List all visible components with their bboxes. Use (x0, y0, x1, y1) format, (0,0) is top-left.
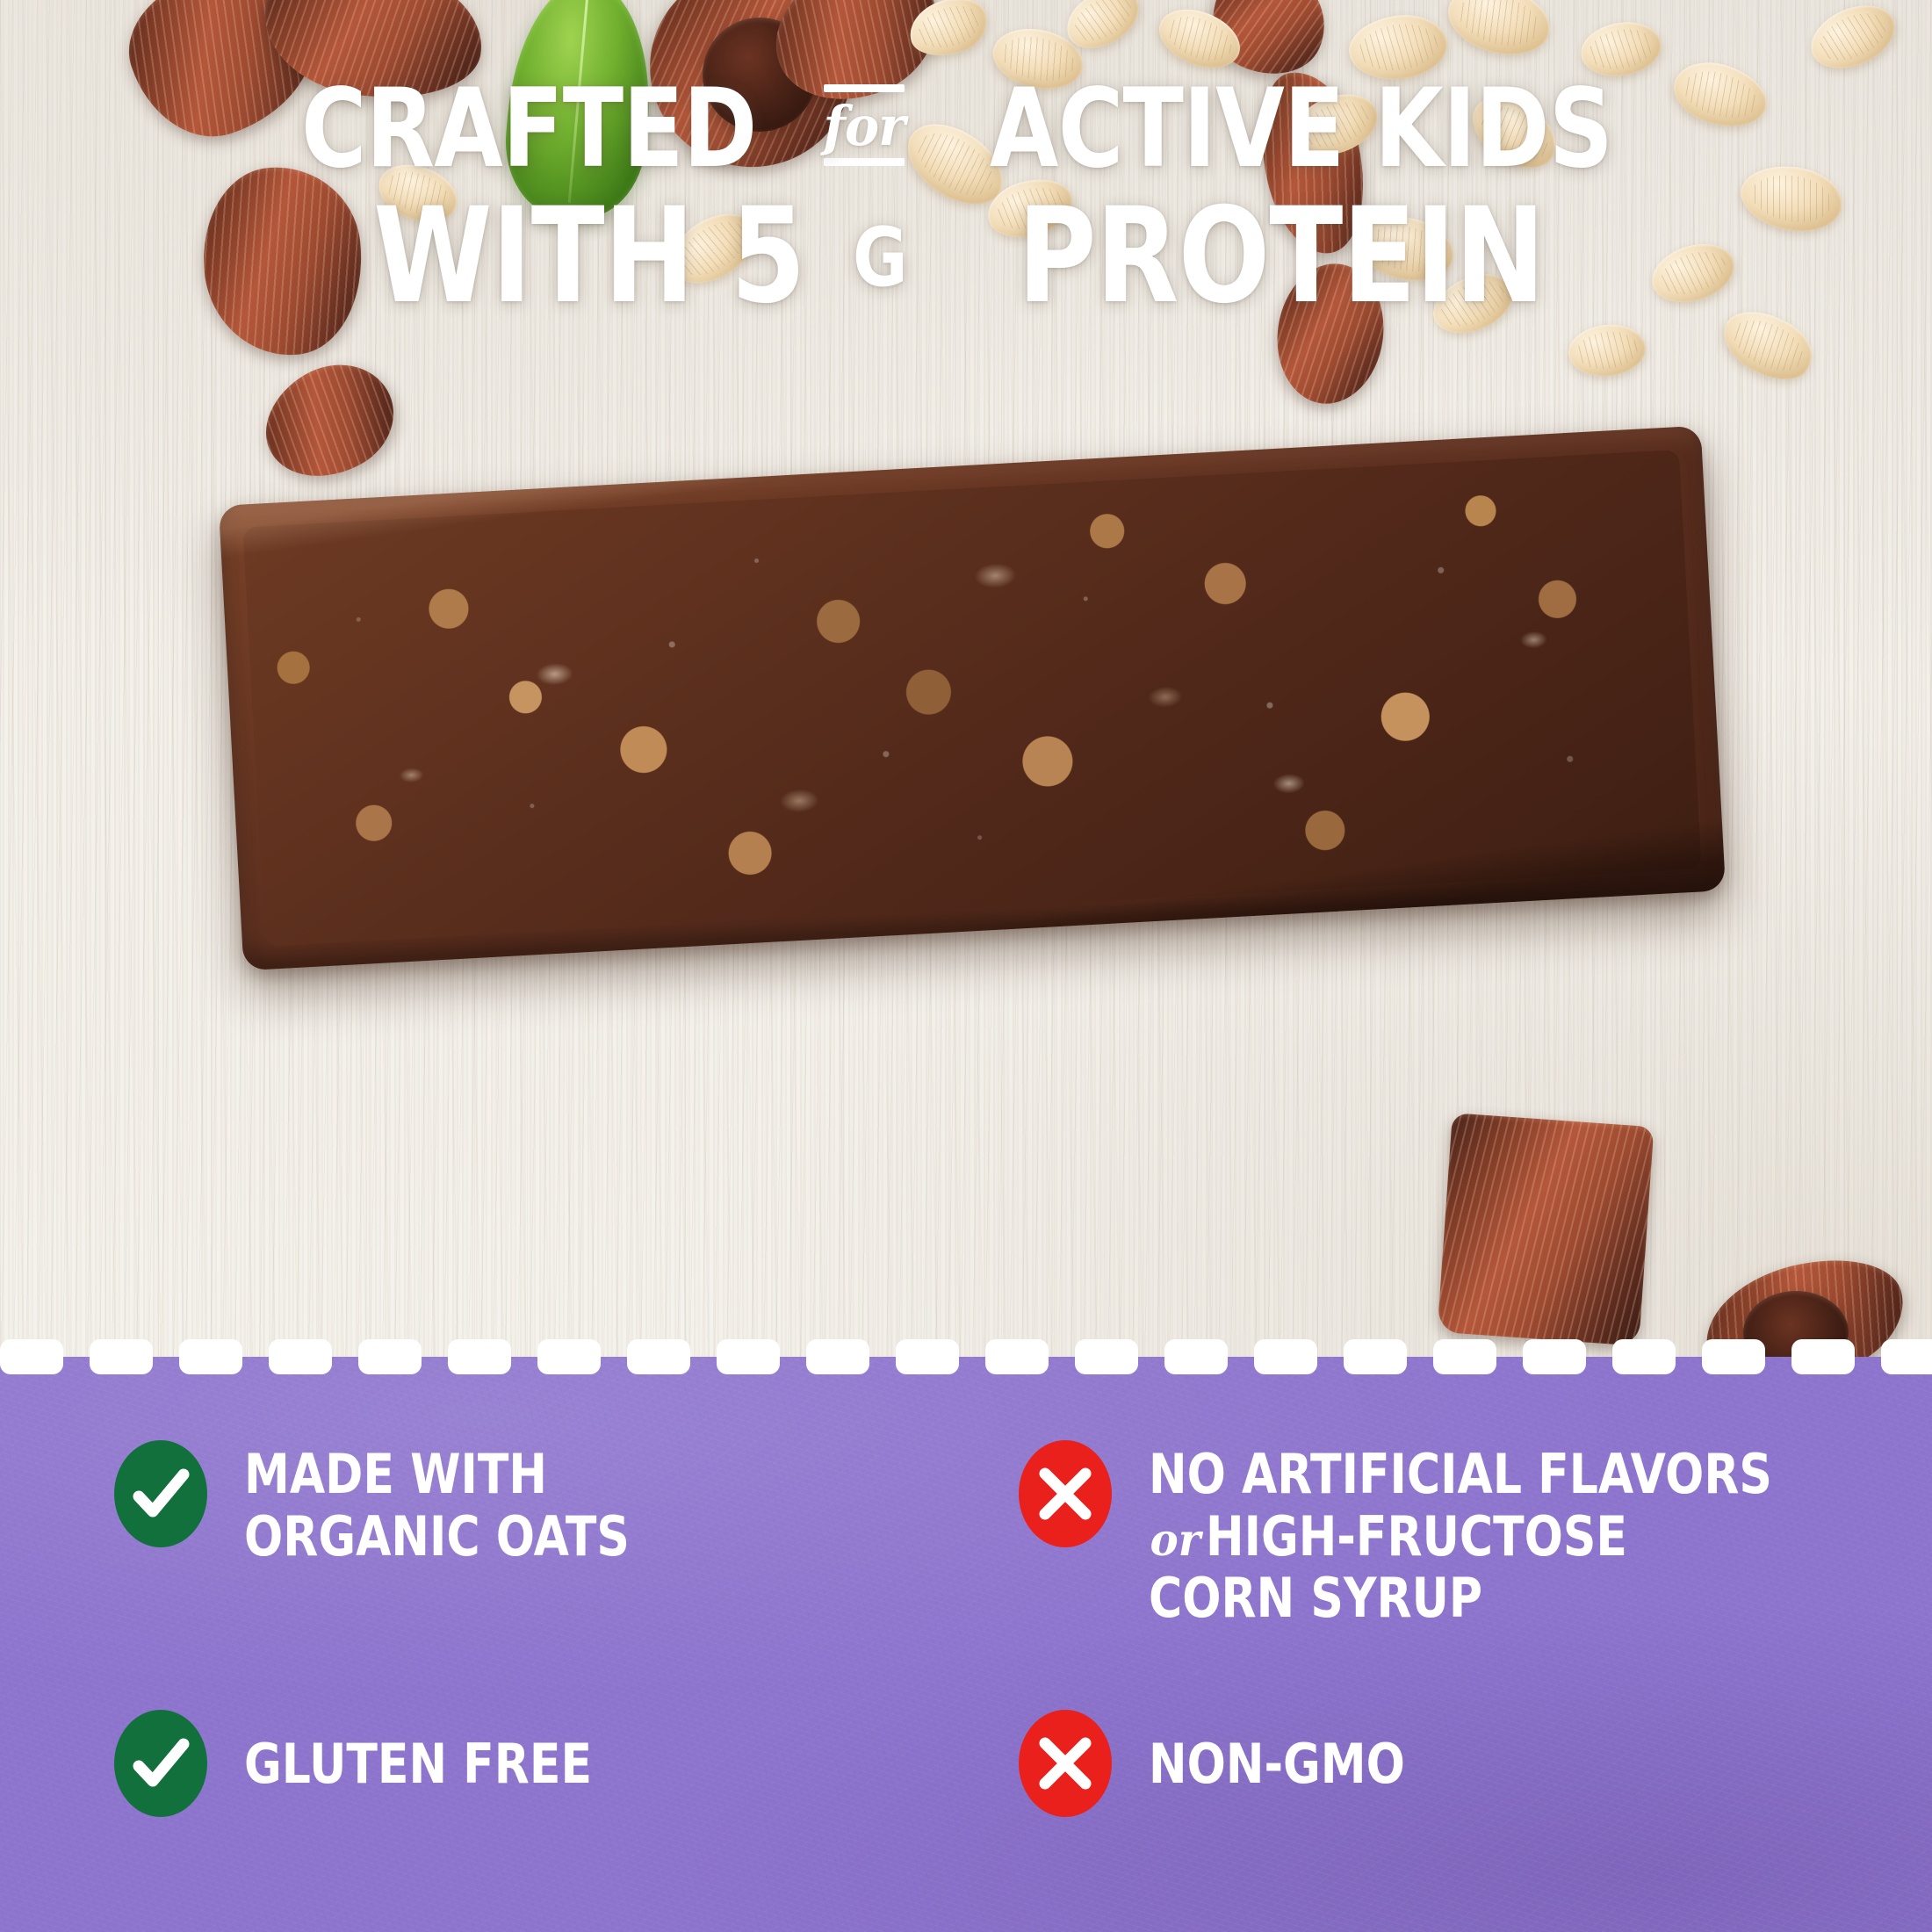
divider-dash (269, 1339, 332, 1374)
divider-dash (90, 1339, 153, 1374)
headline: CRAFTED for ACTIVE KIDS WITH 5 G PROTEIN (0, 74, 1932, 324)
cross-icon (1019, 1440, 1112, 1547)
divider-dash (1254, 1339, 1317, 1374)
claim-line: ORGANIC OATS (244, 1506, 630, 1568)
divider-dash (1433, 1339, 1496, 1374)
claim-organic-oats: MADE WITH ORGANIC OATS (114, 1440, 992, 1655)
divider-dash (896, 1339, 959, 1374)
divider-dash (0, 1339, 63, 1374)
divider-dash (627, 1339, 690, 1374)
claim-text: NO ARTIFICIAL FLAVORS orHIGH-FRUCTOSE CO… (1149, 1440, 1891, 1630)
headline-with-5: WITH 5 (373, 190, 805, 324)
rule-top (824, 84, 905, 92)
product-photo: CRAFTED for ACTIVE KIDS WITH 5 G PROTEIN (0, 0, 1932, 1357)
divider-dash (806, 1339, 869, 1374)
product-claims-poster: CRAFTED for ACTIVE KIDS WITH 5 G PROTEIN (0, 0, 1932, 1932)
claim-gluten-free: GLUTEN FREE (114, 1655, 992, 1871)
divider-dash (1344, 1339, 1407, 1374)
claim-text: GLUTEN FREE (244, 1730, 658, 1796)
divider-dash (358, 1339, 422, 1374)
headline-protein: PROTEIN (980, 190, 1544, 324)
divider-dash (448, 1339, 511, 1374)
divider-dash (1791, 1339, 1855, 1374)
rule-bottom (824, 158, 905, 166)
divider-dash (1523, 1339, 1586, 1374)
claim-line: NO ARTIFICIAL FLAVORS (1149, 1444, 1772, 1506)
check-icon (114, 1710, 207, 1817)
headline-line-1: CRAFTED for ACTIVE KIDS (0, 74, 1932, 184)
claim-line: NON-GMO (1149, 1734, 1405, 1796)
claim-text: NON-GMO (1149, 1730, 1454, 1796)
claim-line: HIGH-FRUCTOSE (1206, 1506, 1627, 1568)
check-icon (114, 1440, 207, 1547)
divider-dash (179, 1339, 242, 1374)
divider-dash (1881, 1339, 1932, 1374)
divider-dash (1075, 1339, 1138, 1374)
granola-bar (230, 465, 1714, 931)
divider-dash (1702, 1339, 1765, 1374)
claim-no-artificial-flavors: NO ARTIFICIAL FLAVORS orHIGH-FRUCTOSE CO… (1019, 1440, 1897, 1655)
claim-script-or: or (1150, 1515, 1201, 1566)
headline-for-script: for (823, 92, 905, 158)
claim-line: GLUTEN FREE (244, 1734, 592, 1796)
chocolate-curl-icon (1438, 1113, 1654, 1345)
headline-active-kids: ACTIVE KIDS (989, 74, 1611, 184)
claim-non-gmo: NON-GMO (1019, 1655, 1897, 1871)
cross-icon (1019, 1710, 1112, 1817)
headline-line-2: WITH 5 G PROTEIN (0, 190, 1932, 324)
headline-for-stack: for (821, 84, 907, 175)
dashed-divider (0, 1337, 1932, 1377)
divider-dash (1164, 1339, 1228, 1374)
divider-dash (985, 1339, 1049, 1374)
headline-crafted: CRAFTED (301, 74, 757, 184)
divider-dash (537, 1339, 601, 1374)
headline-grams-unit: G (853, 216, 907, 299)
claim-line: CORN SYRUP (1149, 1568, 1482, 1630)
claims-grid: MADE WITH ORGANIC OATS NO ARTIFICIAL FLA… (0, 1357, 1932, 1932)
claim-text: MADE WITH ORGANIC OATS (244, 1440, 703, 1568)
claim-line: MADE WITH (244, 1444, 547, 1506)
divider-dash (1612, 1339, 1676, 1374)
divider-dash (717, 1339, 780, 1374)
claims-panel: MADE WITH ORGANIC OATS NO ARTIFICIAL FLA… (0, 1357, 1932, 1932)
